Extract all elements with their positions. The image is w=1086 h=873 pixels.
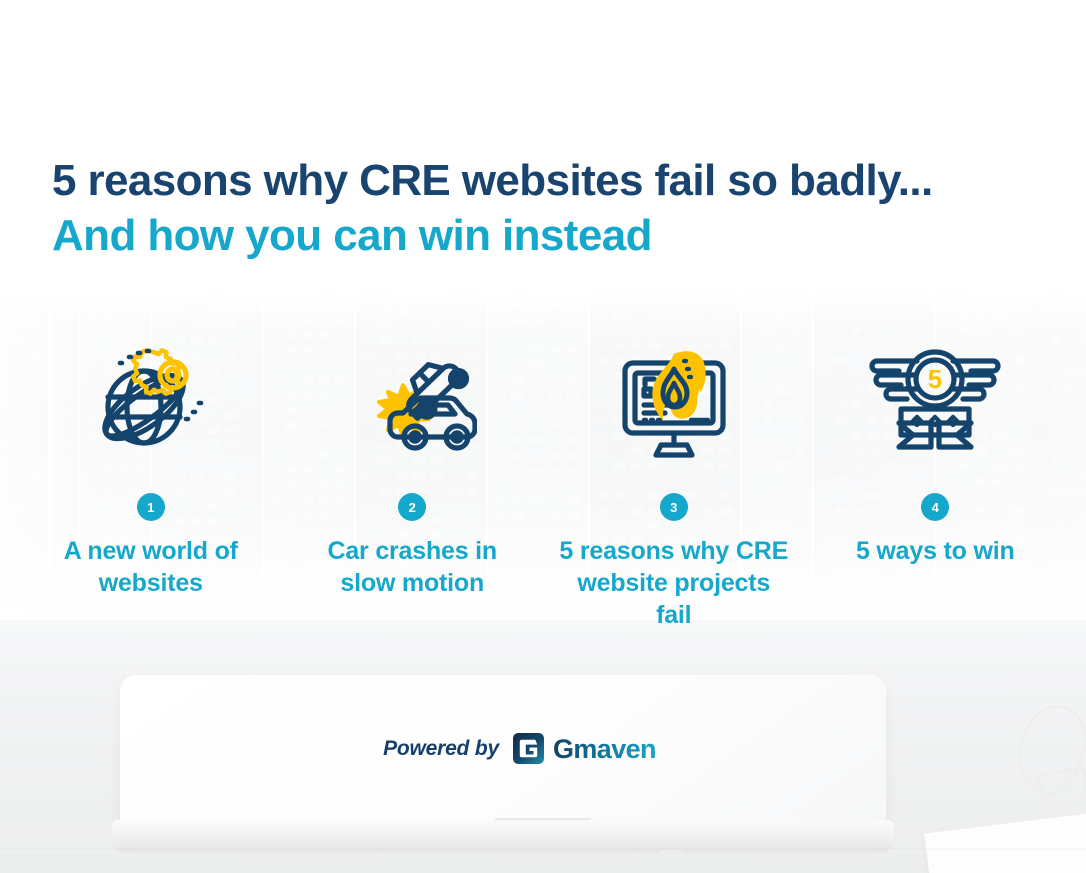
section-badge-2: 2 [398, 493, 426, 521]
page-title: 5 reasons why CRE websites fail so badly… [52, 155, 1052, 262]
winged-medal-icon: 5 [865, 325, 1005, 475]
gmaven-g-mark-icon [513, 733, 544, 764]
globe-gear-icon [86, 325, 216, 475]
sections-row: 1 A new world of websites [20, 325, 1066, 631]
section-badge-3: 3 [660, 493, 688, 521]
svg-text:5: 5 [928, 364, 942, 394]
section-title-4: 5 ways to win [856, 535, 1015, 567]
section-card-2[interactable]: 2 Car crashes in slow motion [282, 325, 544, 599]
section-card-4[interactable]: 5 4 5 ways to win [805, 325, 1067, 567]
powered-by-label: Powered by [383, 737, 499, 761]
headline-line-1: 5 reasons why CRE websites fail so badly… [52, 155, 1052, 207]
section-card-1[interactable]: 1 A new world of websites [20, 325, 282, 599]
headline-line-2: And how you can win instead [52, 210, 1052, 262]
monitor-fire-icon [609, 325, 739, 475]
gmaven-wordmark: Gmaven [553, 734, 703, 764]
section-title-3: 5 reasons why CRE website projects fail [559, 535, 789, 631]
section-title-1: A new world of websites [36, 535, 266, 599]
svg-text:Gmaven: Gmaven [553, 734, 656, 764]
slide-content: 5 reasons why CRE websites fail so badly… [0, 0, 1086, 873]
section-badge-4: 4 [921, 493, 949, 521]
section-card-3[interactable]: 3 5 reasons why CRE website projects fai… [543, 325, 805, 631]
section-title-2: Car crashes in slow motion [297, 535, 527, 599]
section-badge-1: 1 [137, 493, 165, 521]
powered-by-footer: Powered by [0, 733, 1086, 764]
slide-canvas: 5 reasons why CRE websites fail so badly… [0, 0, 1086, 873]
gmaven-logo[interactable]: Gmaven [513, 733, 703, 764]
car-crash-icon [347, 325, 477, 475]
